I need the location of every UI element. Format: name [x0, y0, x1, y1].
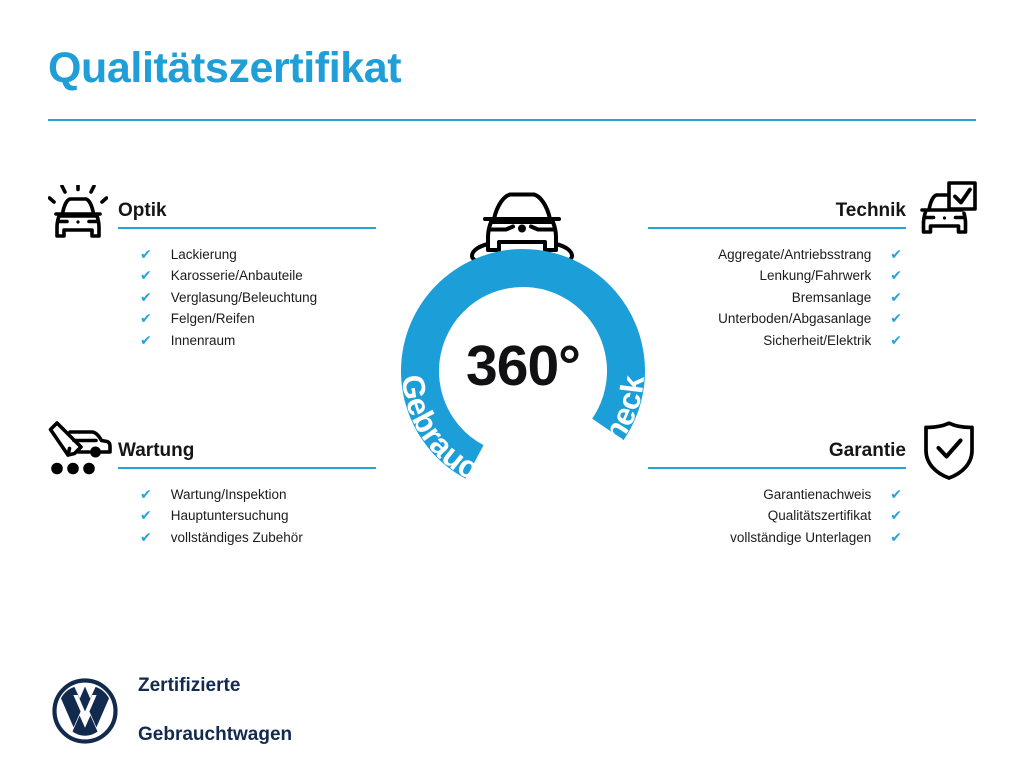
checklist-item-label: vollständige Unterlagen [730, 528, 871, 549]
checklist-item: ✔Karosserie/Anbauteile [118, 265, 418, 287]
checklist-item: vollständige Unterlagen✔ [606, 527, 906, 549]
checklist-item-label: Lenkung/Fahrwerk [759, 266, 871, 287]
check-icon: ✔ [140, 330, 152, 351]
checklist-garantie: Garantienachweis✔Qualitätszertifikat✔vol… [606, 484, 906, 549]
checklist-optik: ✔Lackierung✔Karosserie/Anbauteile✔Vergla… [118, 244, 418, 352]
section-divider-wartung [118, 467, 376, 469]
volkswagen-logo-icon [52, 678, 118, 744]
checklist-item-label: Garantienachweis [763, 485, 871, 506]
section-technik: TechnikAggregate/Antriebsstrang✔Lenkung/… [606, 200, 906, 351]
checklist-item: Garantienachweis✔ [606, 484, 906, 506]
check-icon: ✔ [890, 484, 902, 505]
checklist-technik: Aggregate/Antriebsstrang✔Lenkung/Fahrwer… [606, 244, 906, 352]
section-optik: Optik✔Lackierung✔Karosserie/Anbauteile✔V… [118, 200, 418, 351]
section-divider-technik [648, 227, 906, 229]
checklist-item-label: Lackierung [171, 245, 237, 266]
shield-check-icon [923, 421, 975, 480]
checklist-item: ✔Innenraum [118, 330, 418, 352]
page-title: Qualitätszertifikat [48, 47, 401, 90]
check-icon: ✔ [140, 308, 152, 329]
checklist-item-label: Unterboden/Abgasanlage [718, 309, 871, 330]
checklist-item: ✔Verglasung/Beleuchtung [118, 287, 418, 309]
check-icon: ✔ [890, 287, 902, 308]
check-icon: ✔ [890, 265, 902, 286]
checklist-item-label: Qualitätszertifikat [768, 506, 872, 527]
vw-wordmark-line2: Gebrauchtwagen [138, 723, 292, 747]
checklist-item-label: Karosserie/Anbauteile [171, 266, 303, 287]
checklist-item: ✔Wartung/Inspektion [118, 484, 418, 506]
checklist-item-label: Aggregate/Antriebsstrang [718, 245, 871, 266]
car-checkbox-icon [916, 181, 978, 241]
check-icon: ✔ [140, 287, 152, 308]
check-icon: ✔ [890, 505, 902, 526]
checklist-item-label: Felgen/Reifen [171, 309, 255, 330]
check-icon: ✔ [890, 330, 902, 351]
checklist-item-label: Hauptuntersuchung [171, 506, 289, 527]
section-heading-wartung: Wartung [118, 440, 418, 462]
check-icon: ✔ [890, 244, 902, 265]
checklist-item: Sicherheit/Elektrik✔ [606, 330, 906, 352]
title-divider [48, 119, 976, 121]
checklist-item: Aggregate/Antriebsstrang✔ [606, 244, 906, 266]
check-icon: ✔ [140, 505, 152, 526]
checklist-item: ✔Hauptuntersuchung [118, 505, 418, 527]
section-wartung: Wartung✔Wartung/Inspektion✔Hauptuntersuc… [118, 440, 418, 548]
checklist-item-label: Wartung/Inspektion [171, 485, 287, 506]
section-divider-garantie [648, 467, 906, 469]
checklist-item-label: Sicherheit/Elektrik [763, 331, 871, 352]
pencil-car-icon [48, 421, 112, 483]
checklist-item: ✔vollständiges Zubehör [118, 527, 418, 549]
section-heading-garantie: Garantie [606, 440, 906, 462]
check-icon: ✔ [140, 484, 152, 505]
section-divider-optik [118, 227, 376, 229]
checklist-item: Unterboden/Abgasanlage✔ [606, 308, 906, 330]
section-garantie: GarantieGarantienachweis✔Qualitätszertif… [606, 440, 906, 548]
vw-certified-lockup: Zertifizierte Gebrauchtwagen [52, 650, 292, 772]
checklist-item-label: Verglasung/Beleuchtung [171, 288, 317, 309]
check-icon: ✔ [140, 265, 152, 286]
check-icon: ✔ [890, 527, 902, 548]
check-icon: ✔ [140, 244, 152, 265]
checklist-wartung: ✔Wartung/Inspektion✔Hauptuntersuchung✔vo… [118, 484, 418, 549]
vw-wordmark: Zertifizierte Gebrauchtwagen [138, 650, 292, 772]
checklist-item-label: Bremsanlage [792, 288, 872, 309]
checklist-item: Lenkung/Fahrwerk✔ [606, 265, 906, 287]
check-icon: ✔ [890, 308, 902, 329]
checklist-item: Qualitätszertifikat✔ [606, 505, 906, 527]
checklist-item: ✔Lackierung [118, 244, 418, 266]
check-icon: ✔ [140, 527, 152, 548]
checklist-item: ✔Felgen/Reifen [118, 308, 418, 330]
section-heading-optik: Optik [118, 200, 418, 222]
car-front-lights-icon [48, 185, 108, 243]
checklist-item-label: Innenraum [171, 331, 236, 352]
section-heading-technik: Technik [606, 200, 906, 222]
vw-wordmark-line1: Zertifizierte [138, 674, 292, 698]
checklist-item: Bremsanlage✔ [606, 287, 906, 309]
checklist-item-label: vollständiges Zubehör [171, 528, 303, 549]
